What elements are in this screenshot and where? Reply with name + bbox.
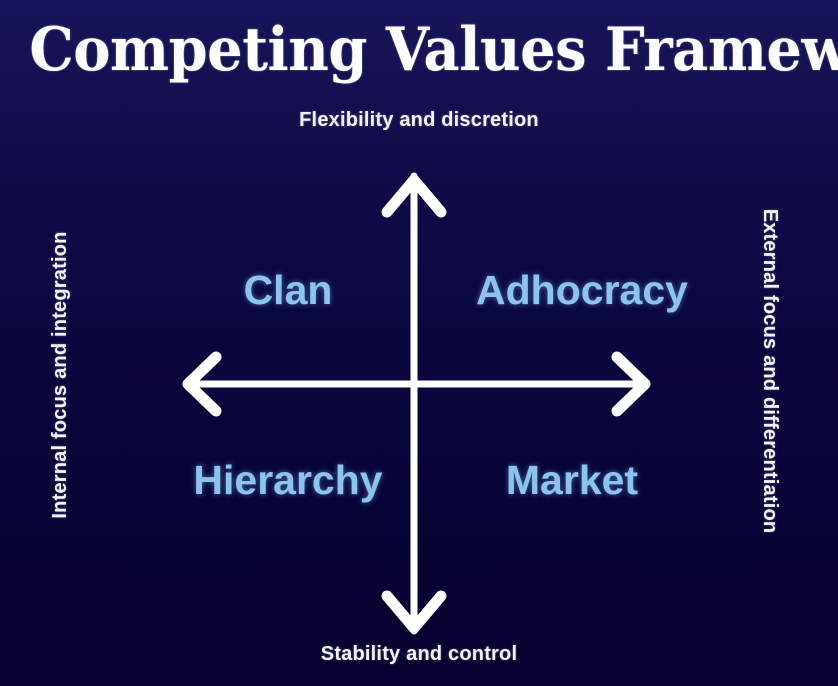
competing-values-framework-diagram: Competing Values Framework Flexibility a… [0, 0, 838, 686]
quadrant-label-adhocracy: Adhocracy [432, 266, 732, 314]
quadrant-label-hierarchy: Hierarchy [168, 456, 408, 504]
quadrant-label-clan: Clan [178, 266, 398, 314]
axes-cross [0, 0, 838, 686]
quadrant-label-market: Market [432, 456, 712, 504]
